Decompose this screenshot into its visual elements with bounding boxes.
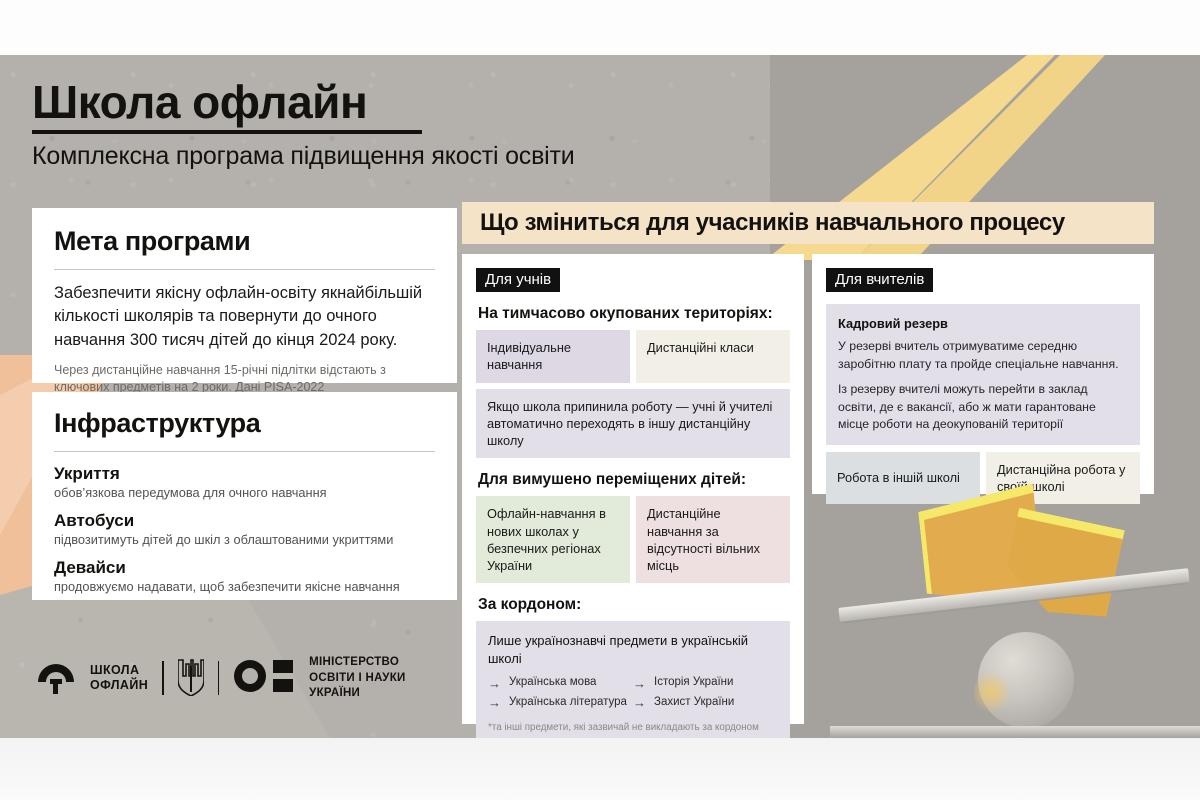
pupils-group-heading-abroad: За кордоном: bbox=[478, 596, 790, 614]
arrow-right-icon: → bbox=[633, 696, 646, 709]
subject-table: → Українська мова → Українська літератур… bbox=[488, 675, 778, 714]
infrastructure-card-heading: Інфраструктура bbox=[54, 408, 435, 439]
arrow-right-icon: → bbox=[488, 696, 501, 709]
section-header-bar: Що зміниться для учасників навчального п… bbox=[462, 202, 1154, 244]
list-item: Укриття обов’язкова передумова для очног… bbox=[54, 464, 435, 500]
yellow-chevron-block-b bbox=[999, 508, 1125, 624]
school-offline-logo-icon bbox=[36, 656, 76, 701]
arrow-right-icon: → bbox=[488, 677, 501, 690]
infra-item-desc: обов’язкова передумова для очного навчан… bbox=[54, 485, 435, 500]
reserve-panel: Кадровий резерв У резерві вчитель отриму… bbox=[826, 304, 1140, 445]
goal-card: Мета програми Забезпечити якісну офлайн-… bbox=[32, 208, 457, 383]
list-item: → Українська література bbox=[488, 695, 633, 711]
ukraine-trident-icon bbox=[178, 656, 204, 701]
ministry-logo-text: МІНІСТЕРСТВО ОСВІТИ І НАУКИ УКРАЇНИ bbox=[309, 655, 405, 702]
infra-item-desc: підвозитимуть дітей до шкіл з облаштован… bbox=[54, 532, 435, 547]
chip-distance-no-places: Дистанційне навчання за відсутності віль… bbox=[636, 496, 790, 583]
subject-label: Українська мова bbox=[509, 675, 596, 691]
list-item: Автобуси підвозитимуть дітей до шкіл з о… bbox=[54, 511, 435, 547]
abroad-footnote: *та інші предмети, які зазвичай не викла… bbox=[488, 721, 778, 734]
goal-card-heading: Мета програми bbox=[54, 226, 435, 257]
chip-distance-classes: Дистанційні класи bbox=[636, 330, 790, 383]
teachers-card: Для вчителів Кадровий резерв У резерві в… bbox=[812, 254, 1154, 494]
sphere-highlight bbox=[974, 668, 1008, 716]
section-heading: Що зміниться для учасників навчального п… bbox=[480, 209, 1065, 237]
divider bbox=[162, 661, 164, 695]
list-item: → Захист України bbox=[633, 695, 778, 711]
list-item: Девайси продовжуємо надавати, щоб забезп… bbox=[54, 558, 435, 594]
infra-item-desc: продовжуємо надавати, щоб забезпечити як… bbox=[54, 579, 435, 594]
infra-item-title: Автобуси bbox=[54, 511, 435, 531]
school-offline-logo-text: ШКОЛАОФЛАЙН bbox=[90, 663, 148, 694]
floor-slab bbox=[830, 726, 1200, 738]
logo-row: ШКОЛАОФЛАЙН МІНІСТЕРСТВО ОСВІТИ І НАУКИ … bbox=[36, 655, 406, 702]
list-item: → Історія України bbox=[633, 675, 778, 691]
subject-label: Українська література bbox=[509, 695, 627, 711]
pupils-card: Для учнів На тимчасово окупованих терито… bbox=[462, 254, 804, 724]
chip-row: Індивідуальне навчання Дистанційні класи bbox=[476, 330, 790, 383]
infra-item-title: Девайси bbox=[54, 558, 435, 578]
divider bbox=[54, 451, 435, 452]
page-title: Школа офлайн bbox=[32, 78, 792, 126]
infrastructure-card: Інфраструктура Укриття обов’язкова перед… bbox=[32, 392, 457, 600]
pupils-group-heading-displaced: Для вимушено переміщених дітей: bbox=[478, 471, 790, 489]
title-underline bbox=[32, 130, 422, 134]
goal-card-body: Забезпечити якісну офлайн-освіту якнайбі… bbox=[54, 282, 435, 352]
chip-offline-new-schools: Офлайн-навчання в нових школах у безпечн… bbox=[476, 496, 630, 583]
subject-label: Історія України bbox=[654, 675, 733, 691]
divider bbox=[218, 661, 220, 695]
page-subtitle: Комплексна програма підвищення якості ос… bbox=[32, 142, 792, 171]
top-margin bbox=[0, 0, 1200, 55]
pupils-tag: Для учнів bbox=[476, 268, 560, 292]
list-item: → Українська мова bbox=[488, 675, 633, 691]
subject-label: Захист України bbox=[654, 695, 734, 711]
reserve-paragraph-2: Із резерву вчителі можуть перейти в закл… bbox=[838, 381, 1128, 433]
infra-item-title: Укриття bbox=[54, 464, 435, 484]
goal-card-note: Через дистанційне навчання 15-річні підл… bbox=[54, 362, 435, 396]
reserve-title: Кадровий резерв bbox=[838, 315, 1128, 332]
divider bbox=[54, 269, 435, 270]
infographic-canvas: Школа офлайн Комплексна програма підвище… bbox=[0, 0, 1200, 800]
subject-column-left: → Українська мова → Українська літератур… bbox=[488, 675, 633, 714]
teachers-tag: Для вчителів bbox=[826, 268, 933, 292]
pupils-group-heading-occupied: На тимчасово окупованих територіях: bbox=[478, 305, 790, 323]
balance-illustration bbox=[830, 490, 1200, 738]
reserve-paragraph-1: У резерві вчитель отримуватиме середню з… bbox=[838, 338, 1128, 373]
mon-logo-icon bbox=[233, 657, 295, 700]
arrow-right-icon: → bbox=[633, 677, 646, 690]
chip-row: Офлайн-навчання в нових школах у безпечн… bbox=[476, 496, 790, 583]
note-school-closed: Якщо школа припинила роботу — учні й учи… bbox=[476, 389, 790, 459]
subject-column-right: → Історія України → Захист України bbox=[633, 675, 778, 714]
abroad-lead: Лише українознавчі предмети в українські… bbox=[488, 632, 778, 667]
bottom-margin bbox=[0, 738, 1200, 800]
page-header: Школа офлайн Комплексна програма підвище… bbox=[32, 78, 792, 171]
chip-individual-learning: Індивідуальне навчання bbox=[476, 330, 630, 383]
